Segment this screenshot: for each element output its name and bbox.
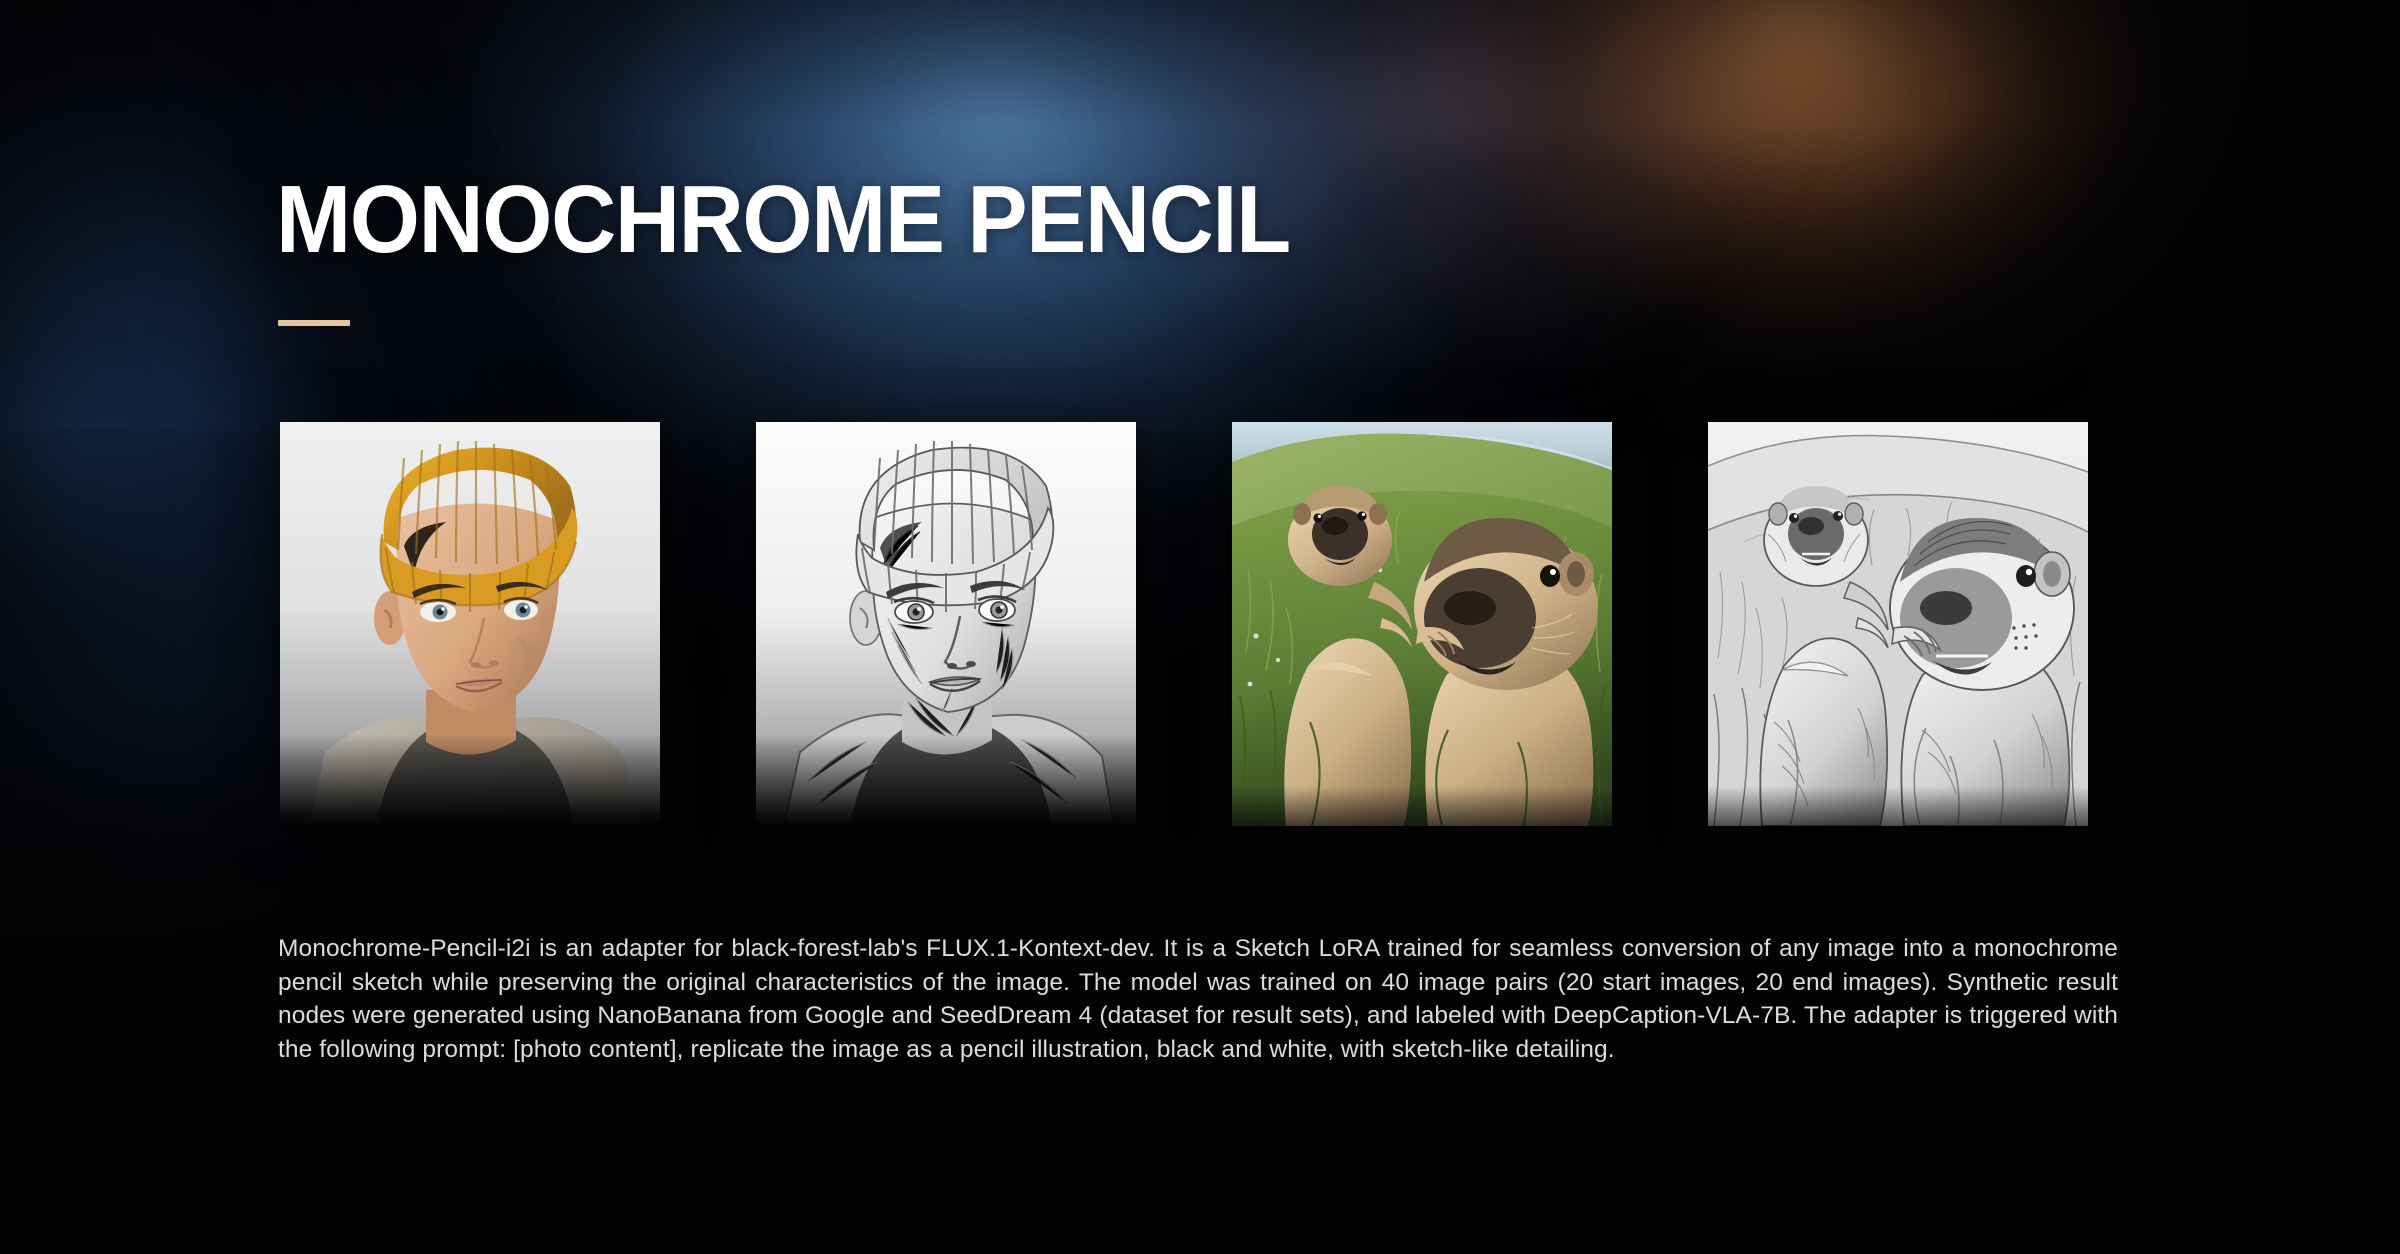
portrait-photo-source: [280, 422, 660, 826]
gallery-item-marmots-sketch[interactable]: [1708, 422, 2088, 826]
model-description: Monochrome-Pencil-i2i is an adapter for …: [278, 932, 2118, 1066]
marmots-sketch-result: [1708, 422, 2088, 826]
marmots-photo-source: [1232, 422, 1612, 826]
gallery-item-portrait-photo[interactable]: [280, 422, 660, 826]
page-title: MONOCHROME PENCIL: [276, 172, 1290, 268]
accent-rule: [278, 320, 350, 326]
example-gallery: [280, 422, 2090, 826]
gallery-item-portrait-sketch[interactable]: [756, 422, 1136, 826]
gallery-item-marmots-photo[interactable]: [1232, 422, 1612, 826]
portrait-sketch-result: [756, 422, 1136, 826]
